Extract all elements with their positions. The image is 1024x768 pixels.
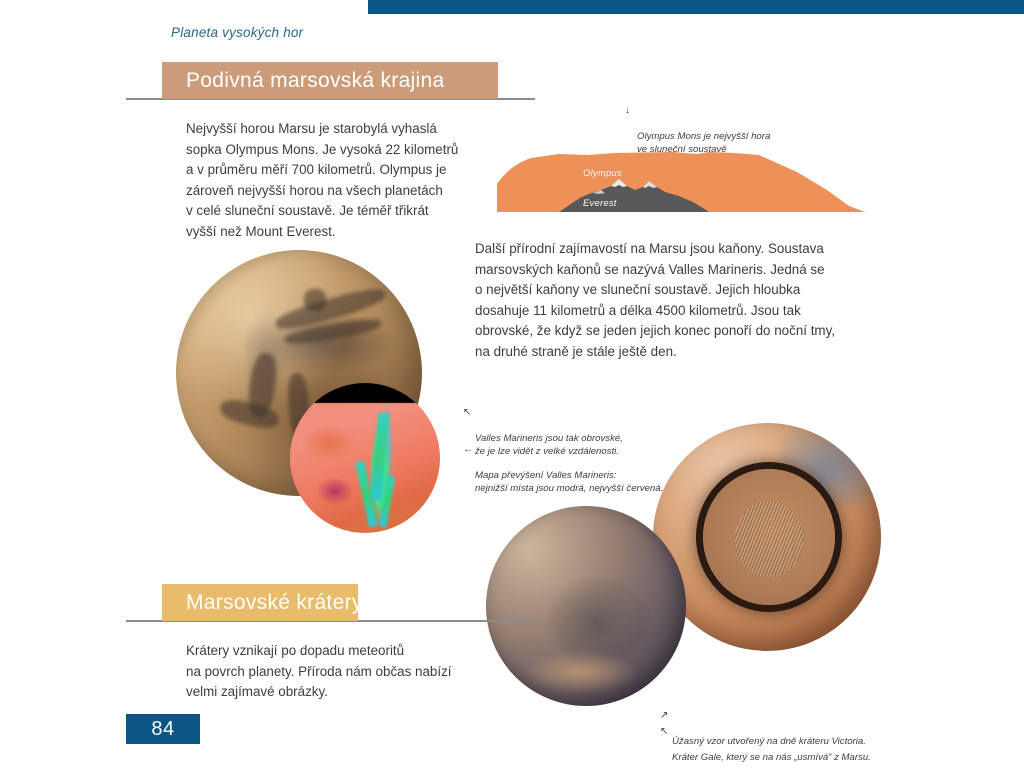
victoria-crater-photo: [653, 423, 881, 651]
body-paragraph-craters: Krátery vznikají po dopadu meteoritů na …: [186, 641, 476, 703]
arrow-up-left-icon: ↖: [660, 725, 668, 738]
gale-crater-photo: [486, 506, 686, 706]
arrow-up-left-icon: ↖: [463, 406, 471, 419]
volcano-spot: [304, 289, 326, 311]
caption-gale-crater: ↖ Kráter Gale, který se na nás „usmívá“ …: [672, 725, 932, 764]
diagram-label-everest: Everest: [583, 198, 617, 209]
body-paragraph-olympus: Nejvyšší horou Marsu je starobylá vyhasl…: [186, 119, 476, 243]
top-blue-bar: [368, 0, 1024, 14]
arrow-down-icon: ↓: [625, 104, 630, 117]
heading-label: Podivná marsovská krajina: [186, 69, 444, 93]
body-paragraph-valles: Další přírodní zajímavostí na Marsu jsou…: [475, 239, 855, 363]
olympus-everest-profile-diagram: [497, 146, 869, 216]
caption-text: Kráter Gale, který se na nás „usmívá“ z …: [672, 752, 871, 763]
heading-band: Podivná marsovská krajina: [162, 62, 498, 99]
running-head: Planeta vysokých hor: [171, 25, 303, 40]
arrow-left-icon: ←: [463, 443, 473, 456]
valles-marineris-topographic-map: [290, 383, 440, 533]
profile-svg: [497, 146, 869, 216]
arrow-up-right-icon: ↗: [660, 709, 668, 722]
crater-rim-highlight: [522, 650, 638, 694]
caption-text: Mapa převýšení Valles Marineris: nejnižš…: [475, 470, 663, 494]
diagram-label-olympus: Olympus: [583, 168, 622, 179]
book-page: Planeta vysokých hor Podivná marsovská k…: [0, 0, 1024, 768]
heading-label: Marsovské krátery: [186, 591, 363, 615]
heading-band: Marsovské krátery: [162, 584, 358, 621]
dune-pattern: [735, 501, 803, 579]
page-number-badge: 84: [126, 714, 200, 744]
